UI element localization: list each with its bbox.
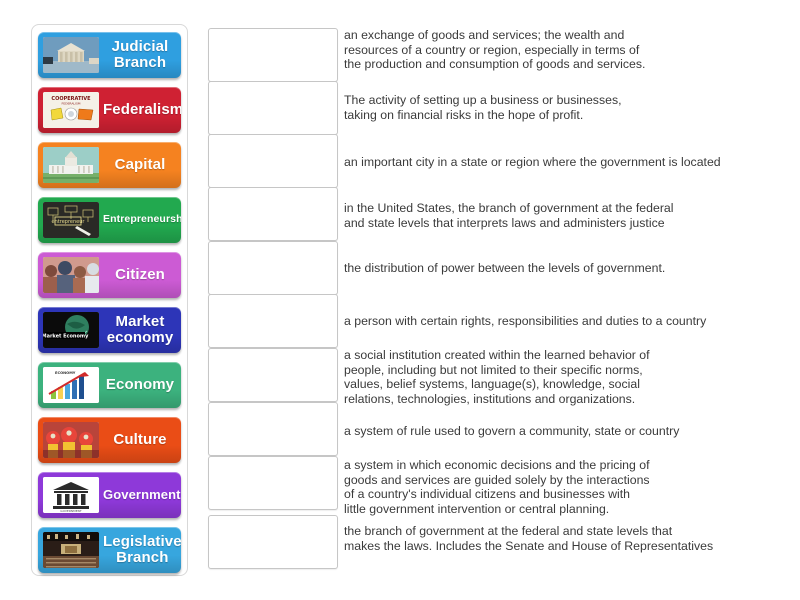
tiles-panel: Judicial Branch COOPERATIVE FEDERALISM F… <box>31 24 188 576</box>
economy-bar-chart-illustration-icon: ECONOMY <box>43 367 99 403</box>
congress-chamber-photo-icon <box>43 532 99 568</box>
cooperative-federalism-diagram-icon: COOPERATIVE FEDERALISM <box>43 92 99 128</box>
word-tile-label: Entrepreneurship <box>99 214 181 225</box>
supreme-court-building-photo-icon <box>43 37 99 73</box>
definition-text: a social institution created within the … <box>344 348 764 406</box>
word-tile-label: Legislative Branch <box>99 534 181 566</box>
svg-text:entrepreneur: entrepreneur <box>52 219 86 225</box>
word-tile[interactable]: entrepreneur Entrepreneurship <box>38 197 181 243</box>
svg-text:ECONOMY: ECONOMY <box>55 371 76 375</box>
answer-dropzone[interactable] <box>208 294 338 348</box>
word-tile[interactable]: Market EconomyMarket economy <box>38 307 181 353</box>
answer-dropzone[interactable] <box>208 28 338 82</box>
answer-dropzone[interactable] <box>208 402 338 456</box>
word-tile[interactable]: ECONOMY Economy <box>38 362 181 408</box>
definition-text: a system of rule used to govern a commun… <box>344 424 764 439</box>
svg-text:Market Economy: Market Economy <box>43 334 89 340</box>
definition-text: a system in which economic decisions and… <box>344 458 764 516</box>
answer-dropzone[interactable] <box>208 134 338 188</box>
answer-dropzone[interactable] <box>208 456 338 510</box>
word-tile[interactable]: Legislative Branch <box>38 527 181 573</box>
svg-text:GOVERNMENT: GOVERNMENT <box>60 509 82 513</box>
word-tile-label: Federalism <box>99 102 181 118</box>
answer-dropzone[interactable] <box>208 187 338 241</box>
word-tile[interactable]: GOVERNMENTGovernment <box>38 472 181 518</box>
government-classical-building-icon-icon: GOVERNMENT <box>43 477 99 513</box>
answer-dropzone[interactable] <box>208 81 338 135</box>
market-economy-globe-photo-icon: Market Economy <box>43 312 99 348</box>
word-tile[interactable]: Capital <box>38 142 181 188</box>
word-tile-label: Market economy <box>99 314 181 346</box>
definition-text: a person with certain rights, responsibi… <box>344 314 764 329</box>
match-up-activity: Judicial Branch COOPERATIVE FEDERALISM F… <box>0 0 800 600</box>
word-tile-label: Citizen <box>99 267 181 283</box>
answer-dropzone[interactable] <box>208 515 338 569</box>
word-tile[interactable]: COOPERATIVE FEDERALISM Federalism <box>38 87 181 133</box>
word-tile-label: Culture <box>99 432 181 448</box>
definition-text: The activity of setting up a business or… <box>344 93 764 122</box>
word-tile[interactable]: Culture <box>38 417 181 463</box>
svg-text:FEDERALISM: FEDERALISM <box>62 102 81 106</box>
word-tile-label: Judicial Branch <box>99 39 181 71</box>
dropzone-column <box>208 28 338 588</box>
definition-text: an exchange of goods and services; the w… <box>344 28 764 72</box>
cultural-dancers-photo-icon <box>43 422 99 458</box>
definition-text: an important city in a state or region w… <box>344 155 764 170</box>
word-tile-label: Government <box>99 488 181 502</box>
entrepreneur-chalkboard-photo-icon: entrepreneur <box>43 202 99 238</box>
word-tile-label: Economy <box>99 377 181 393</box>
word-tile-label: Capital <box>99 157 181 173</box>
definition-text: the distribution of power between the le… <box>344 261 764 276</box>
people-crowd-photo-icon <box>43 257 99 293</box>
definition-text: in the United States, the branch of gove… <box>344 201 764 230</box>
word-tile[interactable]: Judicial Branch <box>38 32 181 78</box>
word-tile[interactable]: Citizen <box>38 252 181 298</box>
definition-text: the branch of government at the federal … <box>344 524 764 553</box>
answer-dropzone[interactable] <box>208 348 338 402</box>
answer-dropzone[interactable] <box>208 241 338 295</box>
state-capitol-building-illustration-icon <box>43 147 99 183</box>
